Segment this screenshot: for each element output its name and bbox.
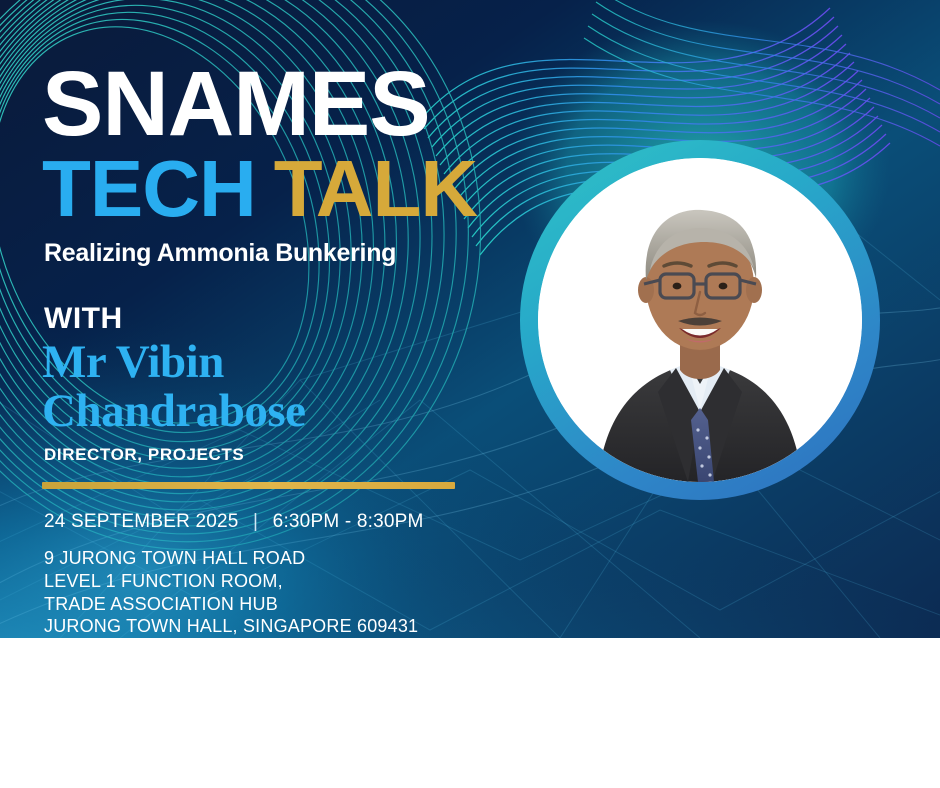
event-poster: SNAMES TECHTALK Realizing Ammonia Bunker… xyxy=(0,0,940,788)
speaker-name-line2: Chandrabose xyxy=(42,387,512,436)
datetime-separator: | xyxy=(244,511,267,533)
speaker-role: DIRECTOR, PROJECTS xyxy=(44,445,512,465)
poster-copy: SNAMES TECHTALK Realizing Ammonia Bunker… xyxy=(42,62,512,638)
venue-line-3: TRADE ASSOCIATION HUB xyxy=(44,593,512,616)
event-venue: 9 JURONG TOWN HALL ROAD LEVEL 1 FUNCTION… xyxy=(44,547,512,638)
title-snames: SNAMES xyxy=(42,62,512,147)
title-tech: TECH xyxy=(42,144,256,233)
event-date: 24 SEPTEMBER 2025 xyxy=(44,511,239,532)
event-datetime: 24 SEPTEMBER 2025 | 6:30PM - 8:30PM xyxy=(44,511,512,533)
with-label: WITH xyxy=(44,302,512,336)
title-talk: TALK xyxy=(274,144,477,233)
venue-line-4: JURONG TOWN HALL, SINGAPORE 609431 xyxy=(44,615,512,638)
speaker-name: Mr Vibin Chandrabose xyxy=(42,338,512,436)
poster-artboard: SNAMES TECHTALK Realizing Ammonia Bunker… xyxy=(0,0,940,638)
event-time: 6:30PM - 8:30PM xyxy=(273,511,424,532)
gold-divider xyxy=(42,482,455,489)
speaker-portrait-frame xyxy=(520,140,880,500)
speaker-name-line1: Mr Vibin xyxy=(42,338,512,387)
venue-line-1: 9 JURONG TOWN HALL ROAD xyxy=(44,547,512,570)
venue-line-2: LEVEL 1 FUNCTION ROOM, xyxy=(44,570,512,593)
portrait-illustration xyxy=(538,158,862,482)
title-subtitle: Realizing Ammonia Bunkering xyxy=(44,239,512,268)
poster-footer: Co-organised by: xyxy=(0,638,940,788)
title-tech-talk: TECHTALK xyxy=(42,151,512,227)
speaker-photo xyxy=(538,158,862,482)
